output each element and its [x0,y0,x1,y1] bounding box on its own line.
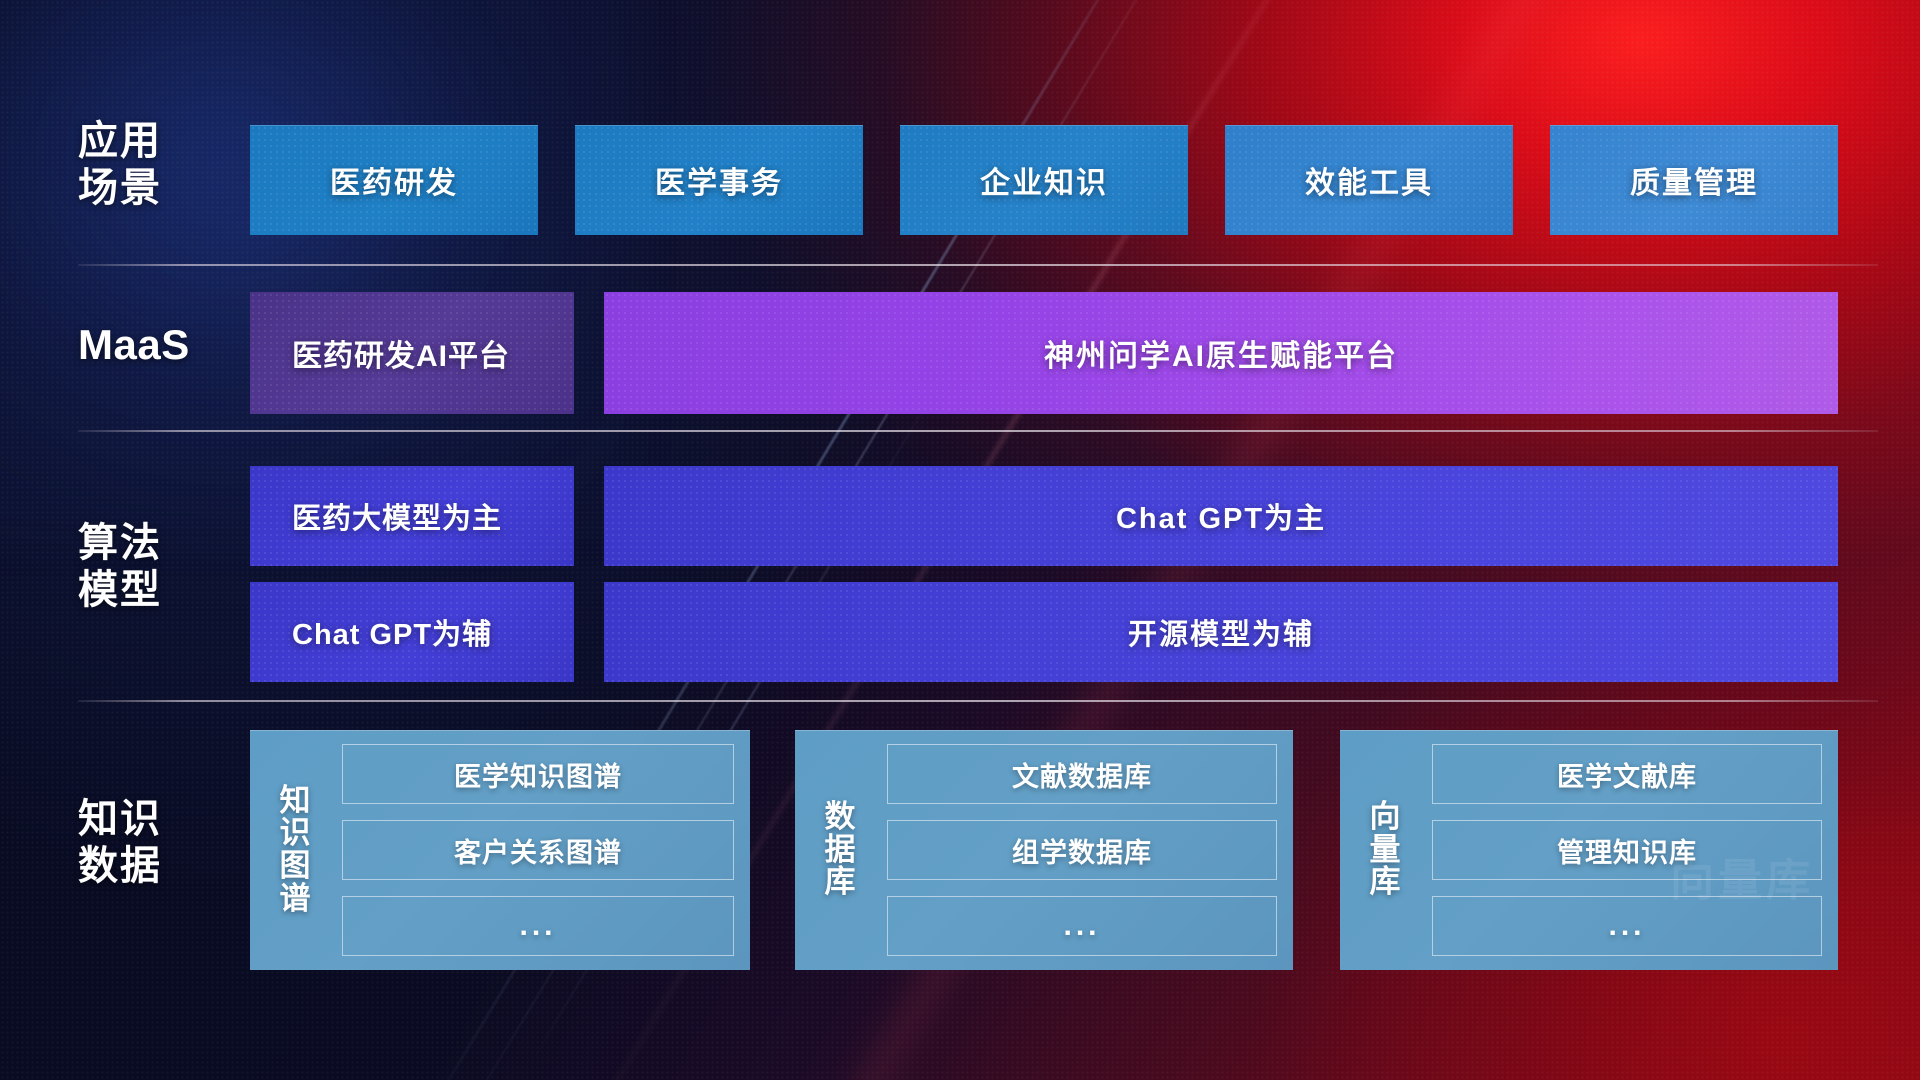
title-char: 库 [825,866,856,899]
knowledge-item-more[interactable]: ... [1432,896,1822,956]
row-label-maas: MaaS [78,320,246,370]
knowledge-item[interactable]: 管理知识库 [1432,820,1822,880]
title-char: 库 [1370,866,1401,899]
title-char: 向 [1370,801,1401,834]
knowledge-item[interactable]: 文献数据库 [887,744,1277,804]
knowledge-data-group-vector-store: 向 量 库 医学文献库 管理知识库 ... 向量库 [1340,730,1838,970]
title-char: 知 [280,785,311,818]
divider-after-algorithm-models [78,700,1878,702]
maas-card-pharma-ai-platform[interactable]: 医药研发AI平台 [250,292,574,414]
title-char: 数 [825,801,856,834]
algo-card-label: 医药大模型为主 [292,495,502,537]
algo-card-label: Chat GPT为辅 [292,611,492,653]
title-char: 谱 [280,883,311,916]
knowledge-item-more[interactable]: ... [342,896,734,956]
row-label-line: 场景 [78,165,246,212]
maas-card-shenzhou-wenxue-platform[interactable]: 神州问学AI原生赋能平台 [604,292,1838,414]
row-label-knowledge-data: 知识 数据 [78,796,246,890]
app-scenario-card-3[interactable]: 企业知识 [900,125,1188,235]
maas-card-label: 医药研发AI平台 [292,331,510,375]
divider-after-maas [78,430,1878,432]
knowledge-data-group-knowledge-graph: 知 识 图 谱 医学知识图谱 客户关系图谱 ... [250,730,750,970]
row-label-line: 数据 [78,843,246,890]
slide-canvas: 应用 场景 医药研发 医学事务 企业知识 效能工具 质量管理 MaaS [0,0,1920,1080]
app-scenario-card-label: 企业知识 [980,158,1108,202]
knowledge-group-item-list: 医学知识图谱 客户关系图谱 ... [342,744,734,956]
app-scenario-card-1[interactable]: 医药研发 [250,125,538,235]
algo-card-opensource-secondary[interactable]: 开源模型为辅 [604,582,1838,682]
title-char: 识 [280,817,311,850]
app-scenario-card-2[interactable]: 医学事务 [575,125,863,235]
maas-card-label: 神州问学AI原生赋能平台 [1044,331,1398,375]
knowledge-group-title-vector-store: 向 量 库 [1354,744,1416,956]
divider-after-application-scenarios [78,264,1878,266]
knowledge-item-more[interactable]: ... [887,896,1277,956]
knowledge-group-item-list: 医学文献库 管理知识库 ... [1432,744,1822,956]
knowledge-group-title-database: 数 据 库 [809,744,871,956]
knowledge-item[interactable]: 医学文献库 [1432,744,1822,804]
row-label-application-scenarios: 应用 场景 [78,118,246,212]
title-char: 量 [1370,834,1401,867]
app-scenario-card-label: 医药研发 [330,158,458,202]
algo-card-label: Chat GPT为主 [1116,495,1326,537]
row-label-line: 算法 [78,520,246,567]
knowledge-item[interactable]: 组学数据库 [887,820,1277,880]
knowledge-item[interactable]: 客户关系图谱 [342,820,734,880]
knowledge-item[interactable]: 医学知识图谱 [342,744,734,804]
app-scenario-card-label: 质量管理 [1630,158,1758,202]
app-scenario-card-4[interactable]: 效能工具 [1225,125,1513,235]
algo-card-chatgpt-primary[interactable]: Chat GPT为主 [604,466,1838,566]
knowledge-group-item-list: 文献数据库 组学数据库 ... [887,744,1277,956]
app-scenario-card-label: 医学事务 [655,158,783,202]
algo-card-pharma-llm-primary[interactable]: 医药大模型为主 [250,466,574,566]
diagram-content: 应用 场景 医药研发 医学事务 企业知识 效能工具 质量管理 MaaS [0,0,1920,1080]
title-char: 据 [825,834,856,867]
row-label-algorithm-models: 算法 模型 [78,520,246,614]
row-label-line: 应用 [78,118,246,165]
algo-card-chatgpt-secondary[interactable]: Chat GPT为辅 [250,582,574,682]
knowledge-group-title-knowledge-graph: 知 识 图 谱 [264,744,326,956]
row-label-line: MaaS [78,320,246,370]
row-label-line: 知识 [78,796,246,843]
app-scenario-card-5[interactable]: 质量管理 [1550,125,1838,235]
knowledge-data-group-database: 数 据 库 文献数据库 组学数据库 ... [795,730,1293,970]
row-label-line: 模型 [78,567,246,614]
algo-card-label: 开源模型为辅 [1128,611,1314,653]
app-scenario-card-label: 效能工具 [1305,158,1433,202]
title-char: 图 [280,850,311,883]
